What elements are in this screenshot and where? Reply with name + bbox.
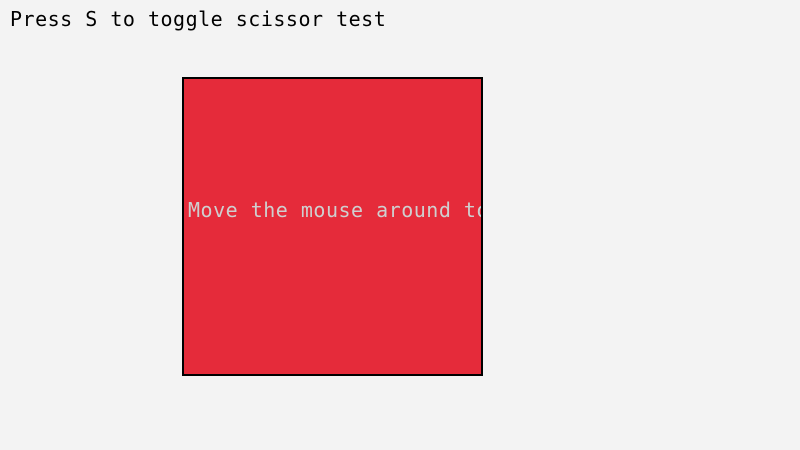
clipped-message-text: Move the mouse around to reveal the rest… (188, 198, 483, 222)
instruction-text: Press S to toggle scissor test (10, 7, 386, 31)
scissor-region[interactable]: Move the mouse around to reveal the rest… (182, 77, 483, 376)
scissor-fill-rect (184, 79, 481, 374)
app-canvas: Press S to toggle scissor test Move the … (0, 0, 800, 450)
